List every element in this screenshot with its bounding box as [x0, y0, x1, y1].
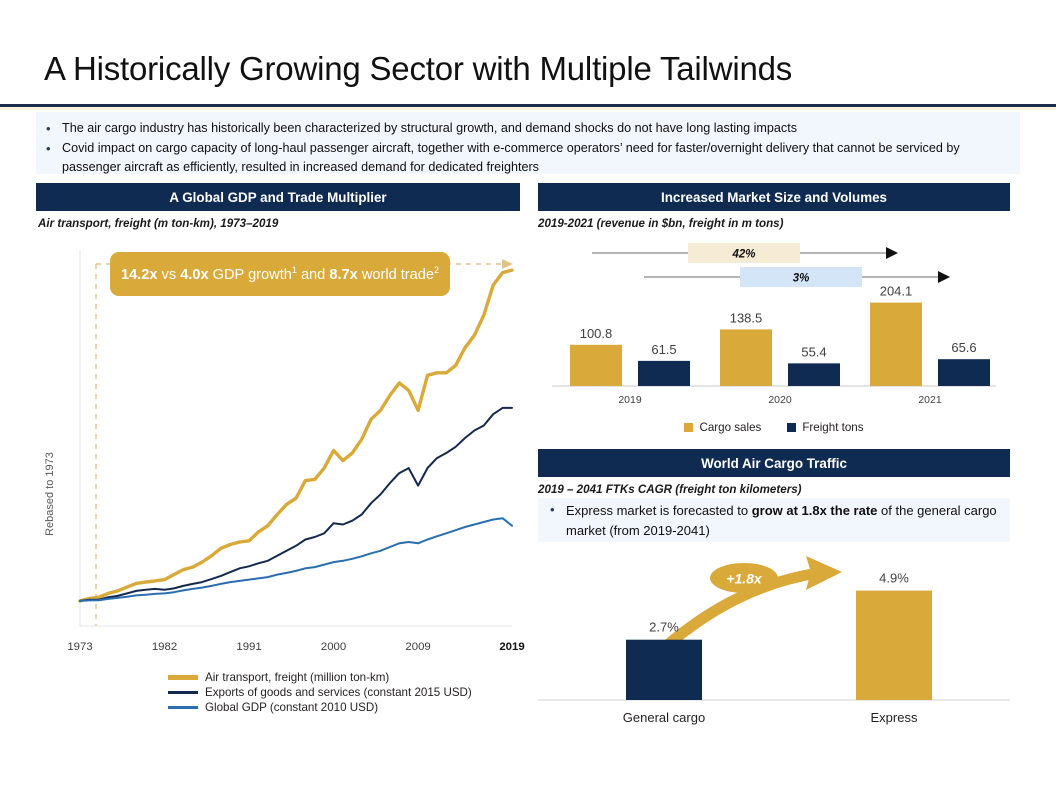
slide: A Historically Growing Sector with Multi…: [0, 0, 1056, 792]
x-tick-1982: 1982: [152, 641, 177, 653]
line-chart-svg: [36, 236, 528, 648]
summary-bullets-band: • The air cargo industry has historicall…: [36, 112, 1020, 174]
legend-swatch: [787, 423, 796, 432]
legend-swatch: [168, 675, 198, 680]
x-category-2019: 2019: [618, 394, 642, 406]
callout-footnote-2: 2: [434, 265, 439, 275]
bar-value-label: 55.4: [801, 344, 826, 359]
bullet-dot-icon: •: [46, 139, 51, 158]
panel-header-right-top-label: Increased Market Size and Volumes: [661, 190, 887, 205]
bar-chart-market-size: 42%3%100.861.52019138.555.42020204.165.6…: [538, 234, 1010, 434]
callout-value-2: 4.0x: [180, 267, 208, 283]
callout-value-3: 8.7x: [329, 267, 357, 283]
panel-header-right-bottom: World Air Cargo Traffic: [538, 449, 1010, 477]
growth-annotation-3: 3%: [793, 273, 810, 285]
bar-2019-cargo-sales: [570, 345, 622, 386]
x-tick-1991: 1991: [236, 641, 261, 653]
panel-header-right-bottom-label: World Air Cargo Traffic: [701, 456, 847, 471]
panel-header-right-top: Increased Market Size and Volumes: [538, 183, 1010, 211]
bar-value-label: 138.5: [730, 310, 763, 325]
bar-chart-svg: 42%3%100.861.52019138.555.42020204.165.6…: [538, 234, 1010, 434]
forecast-text-pre: Express market is forecasted to: [566, 503, 752, 518]
bullet-item: • Covid impact on cargo capacity of long…: [36, 139, 996, 177]
panel-header-left: A Global GDP and Trade Multiplier: [36, 183, 520, 211]
legend-swatch: [168, 691, 198, 695]
callout-mid-4: world trade: [358, 267, 434, 283]
bar-2020-freight-tons: [788, 363, 840, 386]
multiplier-annotation: +1.8x: [726, 571, 763, 587]
line-chart-legend: Air transport, freight (million ton-km)E…: [168, 670, 472, 715]
growth-annotation-42: 42%: [731, 249, 755, 261]
legend-swatch: [684, 423, 693, 432]
legend-item: Freight tons: [787, 421, 863, 434]
x-tick-2019: 2019: [499, 641, 524, 653]
x-category-2021: 2021: [918, 394, 942, 406]
callout-mid-2: GDP growth: [209, 267, 292, 283]
legend-label: Freight tons: [802, 421, 863, 434]
bar-value-label: 65.6: [951, 340, 976, 355]
legend-label: Cargo sales: [699, 421, 761, 434]
forecast-bullet-band: • Express market is forecasted to grow a…: [538, 498, 1010, 542]
bullet-dot-icon: •: [46, 119, 51, 138]
x-category-express: Express: [871, 710, 918, 725]
callout-mid-3: and: [297, 267, 329, 283]
bullet-text: The air cargo industry has historically …: [62, 121, 797, 135]
x-axis-ticks: 197319821991200020092019: [36, 641, 528, 659]
legend-label: Air transport, freight (million ton-km): [205, 671, 389, 684]
bar-2019-freight-tons: [638, 361, 690, 386]
growth-callout: 14.2x vs 4.0x GDP growth1 and 8.7x world…: [110, 252, 450, 296]
bar-chart-legend: Cargo salesFreight tons: [538, 418, 1010, 436]
bar-value-label: 61.5: [651, 342, 676, 357]
legend-item: Exports of goods and services (constant …: [168, 685, 472, 700]
slide-footer: MNG AIRLINES Source:IATA Indu: [0, 734, 1056, 792]
legend-item: Cargo sales: [684, 421, 761, 434]
x-tick-2000: 2000: [321, 641, 346, 653]
title-divider-accent: [0, 107, 1056, 110]
caption-left: Air transport, freight (m ton-km), 1973–…: [38, 217, 278, 230]
bar-2020-cargo-sales: [720, 329, 772, 386]
bullet-item: • The air cargo industry has historicall…: [36, 119, 996, 138]
bar-value-label: 100.8: [580, 326, 613, 341]
forecast-text-bold: grow at 1.8x the rate: [752, 503, 878, 518]
bar-value-label: 2.7%: [649, 620, 679, 635]
y-axis-label: Rebased to 1973: [44, 414, 56, 574]
bullet-text: Covid impact on cargo capacity of long-h…: [62, 141, 960, 174]
page-title: A Historically Growing Sector with Multi…: [44, 50, 792, 88]
legend-label: Global GDP (constant 2010 USD): [205, 701, 378, 714]
bar-express: [856, 591, 932, 700]
bar-general-cargo: [626, 640, 702, 700]
x-category-general-cargo: General cargo: [623, 710, 705, 725]
legend-item: Air transport, freight (million ton-km): [168, 670, 472, 685]
legend-item: Global GDP (constant 2010 USD): [168, 700, 472, 715]
bar-value-label: 4.9%: [879, 571, 909, 586]
legend-swatch: [168, 706, 198, 710]
callout-mid-1: vs: [157, 267, 180, 283]
bar-chart-ftk-cagr: +1.8x2.7%General cargo4.9%Express: [538, 548, 1010, 733]
ftk-bar-svg: +1.8x2.7%General cargo4.9%Express: [538, 548, 1010, 733]
bullet-dot-icon: •: [550, 500, 555, 519]
bullet-item: • Express market is forecasted to grow a…: [538, 498, 1010, 541]
legend-label: Exports of goods and services (constant …: [205, 686, 472, 699]
bar-2021-freight-tons: [938, 359, 990, 386]
x-tick-2009: 2009: [405, 641, 430, 653]
callout-value-1: 14.2x: [121, 267, 158, 283]
caption-right-top: 2019-2021 (revenue in $bn, freight in m …: [538, 217, 783, 230]
bar-value-label: 204.1: [880, 284, 913, 299]
caption-right-bottom: 2019 – 2041 FTKs CAGR (freight ton kilom…: [538, 483, 802, 496]
line-chart-gdp-trade-multiplier: Rebased to 1973: [36, 236, 528, 656]
x-tick-1973: 1973: [67, 641, 92, 653]
panel-header-left-label: A Global GDP and Trade Multiplier: [169, 190, 386, 205]
bar-2021-cargo-sales: [870, 303, 922, 386]
x-category-2020: 2020: [768, 394, 792, 406]
